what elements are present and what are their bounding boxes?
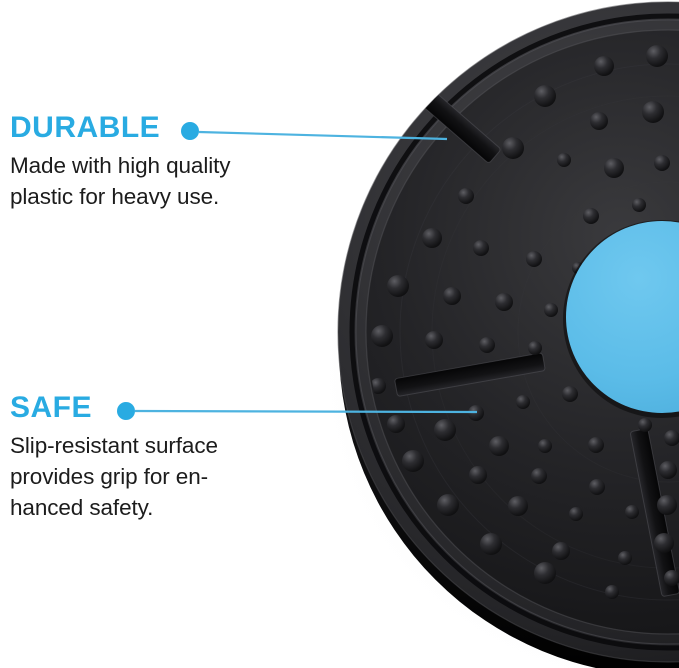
callout-safe: SAFE Slip-resistant surface provides gri… <box>10 390 310 523</box>
callout-safe-body: Slip-resistant surface provides grip for… <box>10 430 310 523</box>
product-infographic: DURABLE Made with high quality plastic f… <box>0 0 679 668</box>
callout-durable: DURABLE Made with high quality plastic f… <box>10 110 310 212</box>
callout-safe-heading: SAFE <box>10 390 310 426</box>
callout-durable-heading: DURABLE <box>10 110 310 146</box>
callout-durable-body: Made with high quality plastic for heavy… <box>10 150 310 212</box>
balance-board-figure <box>0 0 679 668</box>
